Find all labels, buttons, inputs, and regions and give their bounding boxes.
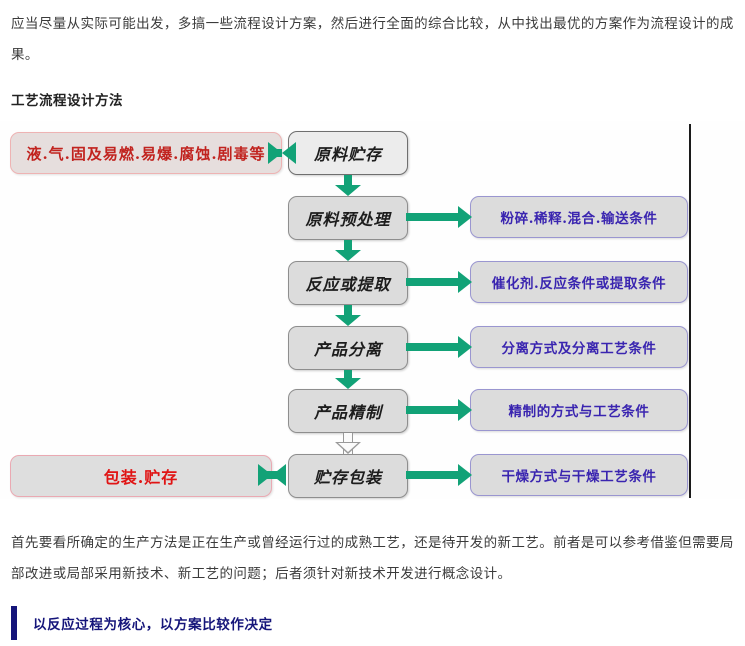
center-node-storage-packaging: 贮存包装 xyxy=(288,454,408,498)
arrow-storage-to-pretreatment xyxy=(335,175,361,196)
arrow-separation-to-conditions xyxy=(406,336,472,358)
right-node-separation-conditions: 分离方式及分离工艺条件 xyxy=(470,326,688,368)
arrow-storage-packaging-to-drying-conditions xyxy=(406,464,472,486)
center-node-raw-material-pretreatment-label: 原料预处理 xyxy=(305,206,390,230)
left-node-hazard-types-label: 液.气.固及易燃.易爆.腐蚀.剧毒等 xyxy=(26,143,265,164)
arrow-pretreatment-to-conditions xyxy=(406,206,472,228)
callout-text: 以反应过程为核心，以方案比较作决定 xyxy=(33,613,273,633)
center-node-raw-material-storage-label: 原料贮存 xyxy=(314,141,382,165)
section-heading: 工艺流程设计方法 xyxy=(11,89,123,109)
right-node-drying-conditions-label: 干燥方式与干燥工艺条件 xyxy=(501,465,656,485)
arrow-refining-to-conditions xyxy=(406,399,472,421)
right-node-drying-conditions: 干燥方式与干燥工艺条件 xyxy=(470,454,688,496)
arrow-storage-packaging-to-packaging xyxy=(258,464,294,486)
arrow-separation-to-refining xyxy=(335,370,361,389)
left-node-packaging-storage: 包装.贮存 xyxy=(10,455,272,497)
right-node-separation-conditions-label: 分离方式及分离工艺条件 xyxy=(501,337,656,357)
left-node-hazard-types: 液.气.固及易燃.易爆.腐蚀.剧毒等 xyxy=(10,132,282,174)
center-node-product-refining: 产品精制 xyxy=(288,389,408,433)
arrow-refining-to-storage-packaging xyxy=(335,433,361,454)
left-node-packaging-storage-label: 包装.贮存 xyxy=(104,464,179,488)
intro-paragraph: 应当尽量从实际可能出发，多搞一些流程设计方案，然后进行全面的综合比较，从中找出最… xyxy=(11,8,735,70)
center-node-storage-packaging-label: 贮存包装 xyxy=(314,464,382,488)
center-node-reaction-or-extraction: 反应或提取 xyxy=(288,261,408,305)
right-node-pretreatment-conditions: 粉碎.稀释.混合.输送条件 xyxy=(470,196,688,238)
right-node-reaction-conditions: 催化剂.反应条件或提取条件 xyxy=(470,261,688,303)
center-node-product-separation: 产品分离 xyxy=(288,326,408,370)
callout: 以反应过程为核心，以方案比较作决定 xyxy=(11,606,273,640)
right-node-refining-conditions-label: 精制的方式与工艺条件 xyxy=(509,400,650,420)
arrow-storage-to-hazard-types xyxy=(268,142,292,164)
closing-paragraph: 首先要看所确定的生产方法是正在生产或曾经运行过的成熟工艺，还是待开发的新工艺。前… xyxy=(11,527,737,589)
center-node-reaction-or-extraction-label: 反应或提取 xyxy=(305,271,390,295)
arrow-pretreatment-to-reaction xyxy=(335,240,361,261)
callout-accent-bar xyxy=(11,606,17,640)
right-node-pretreatment-conditions-label: 粉碎.稀释.混合.输送条件 xyxy=(501,207,658,227)
center-node-product-separation-label: 产品分离 xyxy=(314,336,382,360)
center-node-product-refining-label: 产品精制 xyxy=(314,399,382,423)
arrow-reaction-to-separation xyxy=(335,305,361,326)
right-node-refining-conditions: 精制的方式与工艺条件 xyxy=(470,389,688,431)
center-node-raw-material-storage: 原料贮存 xyxy=(288,131,408,175)
right-node-reaction-conditions-label: 催化剂.反应条件或提取条件 xyxy=(492,272,667,292)
center-node-raw-material-pretreatment: 原料预处理 xyxy=(288,196,408,240)
process-flow-diagram: 液.气.固及易燃.易爆.腐蚀.剧毒等 包装.贮存 原料贮存 原料预处理 反应或提… xyxy=(0,121,745,499)
diagram-right-rule xyxy=(689,124,691,498)
arrow-reaction-to-conditions xyxy=(406,271,472,293)
